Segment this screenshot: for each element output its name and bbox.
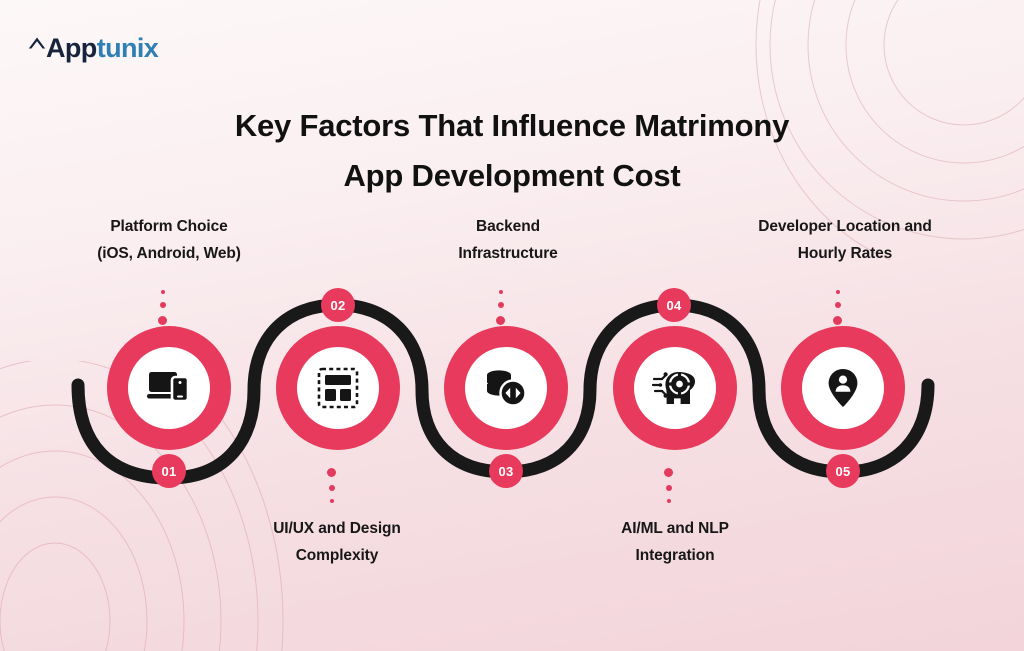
- dot: [327, 468, 336, 477]
- step-caption-3-line-1: Backend: [388, 214, 628, 241]
- page-title-line-2: App Development Cost: [0, 151, 1024, 201]
- step-caption-2-line-2: Complexity: [217, 543, 457, 570]
- step-caption-4: AI/ML and NLP Integration: [555, 516, 795, 569]
- dot: [160, 302, 166, 308]
- dot: [329, 485, 335, 491]
- step-dots-2: [327, 464, 336, 507]
- step-badge-4[interactable]: 04: [657, 288, 691, 322]
- step-caption-5-line-2: Hourly Rates: [712, 241, 978, 268]
- ai-head-gear-circuit-icon: [652, 368, 698, 408]
- step-caption-3: Backend Infrastructure: [388, 214, 628, 267]
- step-badge-4-label: 04: [666, 298, 681, 313]
- step-dots-3: [496, 286, 505, 329]
- step-node-5[interactable]: [781, 326, 905, 450]
- dot: [496, 316, 505, 325]
- step-icon-wrap-3: [465, 347, 547, 429]
- dot: [158, 316, 167, 325]
- step-caption-2: UI/UX and Design Complexity: [217, 516, 457, 569]
- arch-chevron-icon: [27, 36, 47, 62]
- infographic-canvas: App tunix Key Factors That Influence Mat…: [0, 0, 1024, 651]
- map-pin-person-icon: [826, 367, 860, 409]
- step-icon-wrap-1: [128, 347, 210, 429]
- page-title-line-1: Key Factors That Influence Matrimony: [235, 108, 789, 143]
- step-badge-5[interactable]: 05: [826, 454, 860, 488]
- logo-text-primary: App: [46, 35, 97, 62]
- step-caption-4-line-1: AI/ML and NLP: [555, 516, 795, 543]
- step-caption-1-line-2: (iOS, Android, Web): [49, 241, 289, 268]
- dot: [330, 499, 334, 503]
- step-caption-4-line-2: Integration: [555, 543, 795, 570]
- step-caption-3-line-2: Infrastructure: [388, 241, 628, 268]
- step-caption-1-line-1: Platform Choice: [49, 214, 289, 241]
- step-caption-1: Platform Choice (iOS, Android, Web): [49, 214, 289, 267]
- page-title: Key Factors That Influence Matrimony App…: [0, 101, 1024, 201]
- step-icon-wrap-4: [634, 347, 716, 429]
- step-badge-1[interactable]: 01: [152, 454, 186, 488]
- step-badge-3-label: 03: [498, 464, 513, 479]
- step-icon-wrap-5: [802, 347, 884, 429]
- step-node-2[interactable]: [276, 326, 400, 450]
- dot: [666, 485, 672, 491]
- step-dots-1: [158, 286, 167, 329]
- step-dots-5: [833, 286, 842, 329]
- step-badge-2-label: 02: [330, 298, 345, 313]
- step-badge-2[interactable]: 02: [321, 288, 355, 322]
- step-badge-1-label: 01: [161, 464, 176, 479]
- dot: [835, 302, 841, 308]
- step-badge-3[interactable]: 03: [489, 454, 523, 488]
- step-caption-5: Developer Location and Hourly Rates: [712, 214, 978, 267]
- step-dots-4: [664, 464, 673, 507]
- step-caption-2-line-1: UI/UX and Design: [217, 516, 457, 543]
- brand-logo[interactable]: App tunix: [27, 28, 158, 62]
- database-code-icon: [484, 368, 528, 408]
- devices-laptop-phone-icon: [146, 368, 192, 408]
- logo-text-secondary: tunix: [97, 35, 159, 62]
- step-caption-5-line-1: Developer Location and: [712, 214, 978, 241]
- dot: [836, 290, 840, 294]
- dot: [833, 316, 842, 325]
- dot: [499, 290, 503, 294]
- wireframe-layout-grid-icon: [317, 367, 359, 409]
- step-icon-wrap-2: [297, 347, 379, 429]
- dot: [498, 302, 504, 308]
- dot: [664, 468, 673, 477]
- step-badge-5-label: 05: [835, 464, 850, 479]
- step-node-1[interactable]: [107, 326, 231, 450]
- step-node-4[interactable]: [613, 326, 737, 450]
- step-node-3[interactable]: [444, 326, 568, 450]
- dot: [161, 290, 165, 294]
- dot: [667, 499, 671, 503]
